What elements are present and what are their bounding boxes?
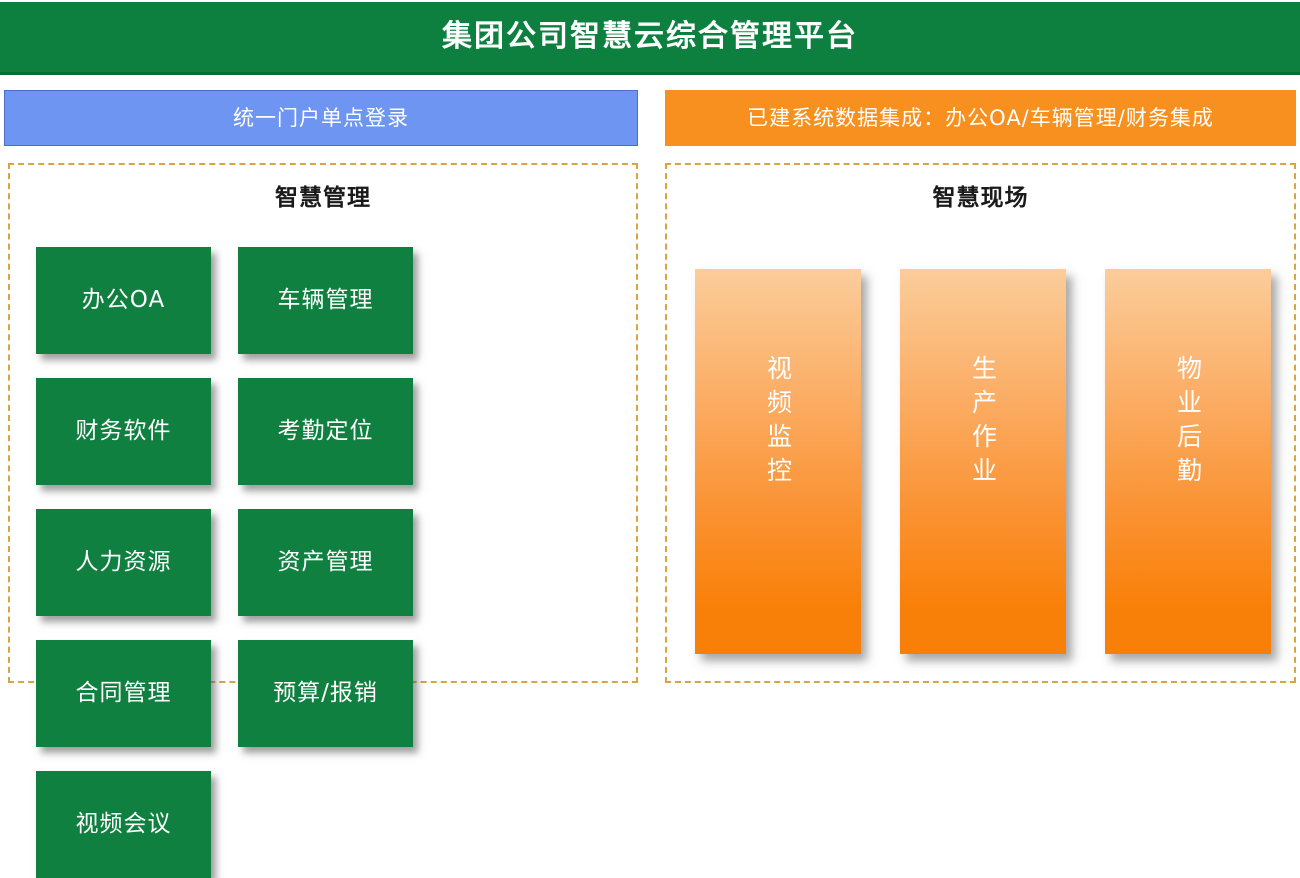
tile-label: 视频会议 bbox=[76, 813, 172, 836]
smart-management-tile-grid: 办公OA 车辆管理 财务软件 考勤定位 人力资源 资产管理 合同管理 预算/报销… bbox=[36, 247, 614, 878]
portal-sso-label: 统一门户单点登录 bbox=[233, 108, 409, 129]
tile-label: 合同管理 bbox=[76, 682, 172, 705]
column-property-logistics[interactable]: 物业后勤 bbox=[1105, 269, 1271, 654]
system-integration-bar[interactable]: 已建系统数据集成：办公OA/车辆管理/财务集成 bbox=[665, 90, 1296, 146]
smart-site-column-row: 视频监控 生产作业 物业后勤 bbox=[695, 269, 1271, 659]
column-label: 视频监控 bbox=[766, 355, 791, 654]
tile-asset-management[interactable]: 资产管理 bbox=[238, 509, 413, 616]
tile-label: 人力资源 bbox=[76, 551, 172, 574]
tile-finance-software[interactable]: 财务软件 bbox=[36, 378, 211, 485]
page-title: 集团公司智慧云综合管理平台 bbox=[442, 22, 858, 52]
column-label: 生产作业 bbox=[971, 355, 996, 654]
tile-budget-reimbursement[interactable]: 预算/报销 bbox=[238, 640, 413, 747]
tile-vehicle-management[interactable]: 车辆管理 bbox=[238, 247, 413, 354]
tile-label: 财务软件 bbox=[76, 420, 172, 443]
column-video-surveillance[interactable]: 视频监控 bbox=[695, 269, 861, 654]
tile-attendance-location[interactable]: 考勤定位 bbox=[238, 378, 413, 485]
tile-human-resources[interactable]: 人力资源 bbox=[36, 509, 211, 616]
tile-label: 资产管理 bbox=[278, 551, 374, 574]
smart-management-panel: 智慧管理 办公OA 车辆管理 财务软件 考勤定位 人力资源 资产管理 合同管理 … bbox=[8, 163, 638, 683]
tile-video-conference[interactable]: 视频会议 bbox=[36, 771, 211, 878]
tile-label: 车辆管理 bbox=[278, 289, 374, 312]
tile-contract-management[interactable]: 合同管理 bbox=[36, 640, 211, 747]
column-label: 物业后勤 bbox=[1176, 355, 1201, 654]
tile-label: 预算/报销 bbox=[273, 682, 378, 705]
column-production-operations[interactable]: 生产作业 bbox=[900, 269, 1066, 654]
system-integration-label: 已建系统数据集成：办公OA/车辆管理/财务集成 bbox=[747, 108, 1214, 129]
tile-label: 考勤定位 bbox=[278, 420, 374, 443]
app-title-banner: 集团公司智慧云综合管理平台 bbox=[0, 2, 1300, 72]
tile-label: 办公OA bbox=[82, 289, 165, 312]
smart-site-panel: 智慧现场 视频监控 生产作业 物业后勤 bbox=[665, 163, 1296, 683]
smart-site-heading: 智慧现场 bbox=[667, 187, 1294, 210]
smart-management-heading: 智慧管理 bbox=[10, 187, 636, 210]
tile-office-oa[interactable]: 办公OA bbox=[36, 247, 211, 354]
title-banner-underline bbox=[0, 72, 1300, 75]
portal-sso-bar[interactable]: 统一门户单点登录 bbox=[4, 90, 638, 146]
